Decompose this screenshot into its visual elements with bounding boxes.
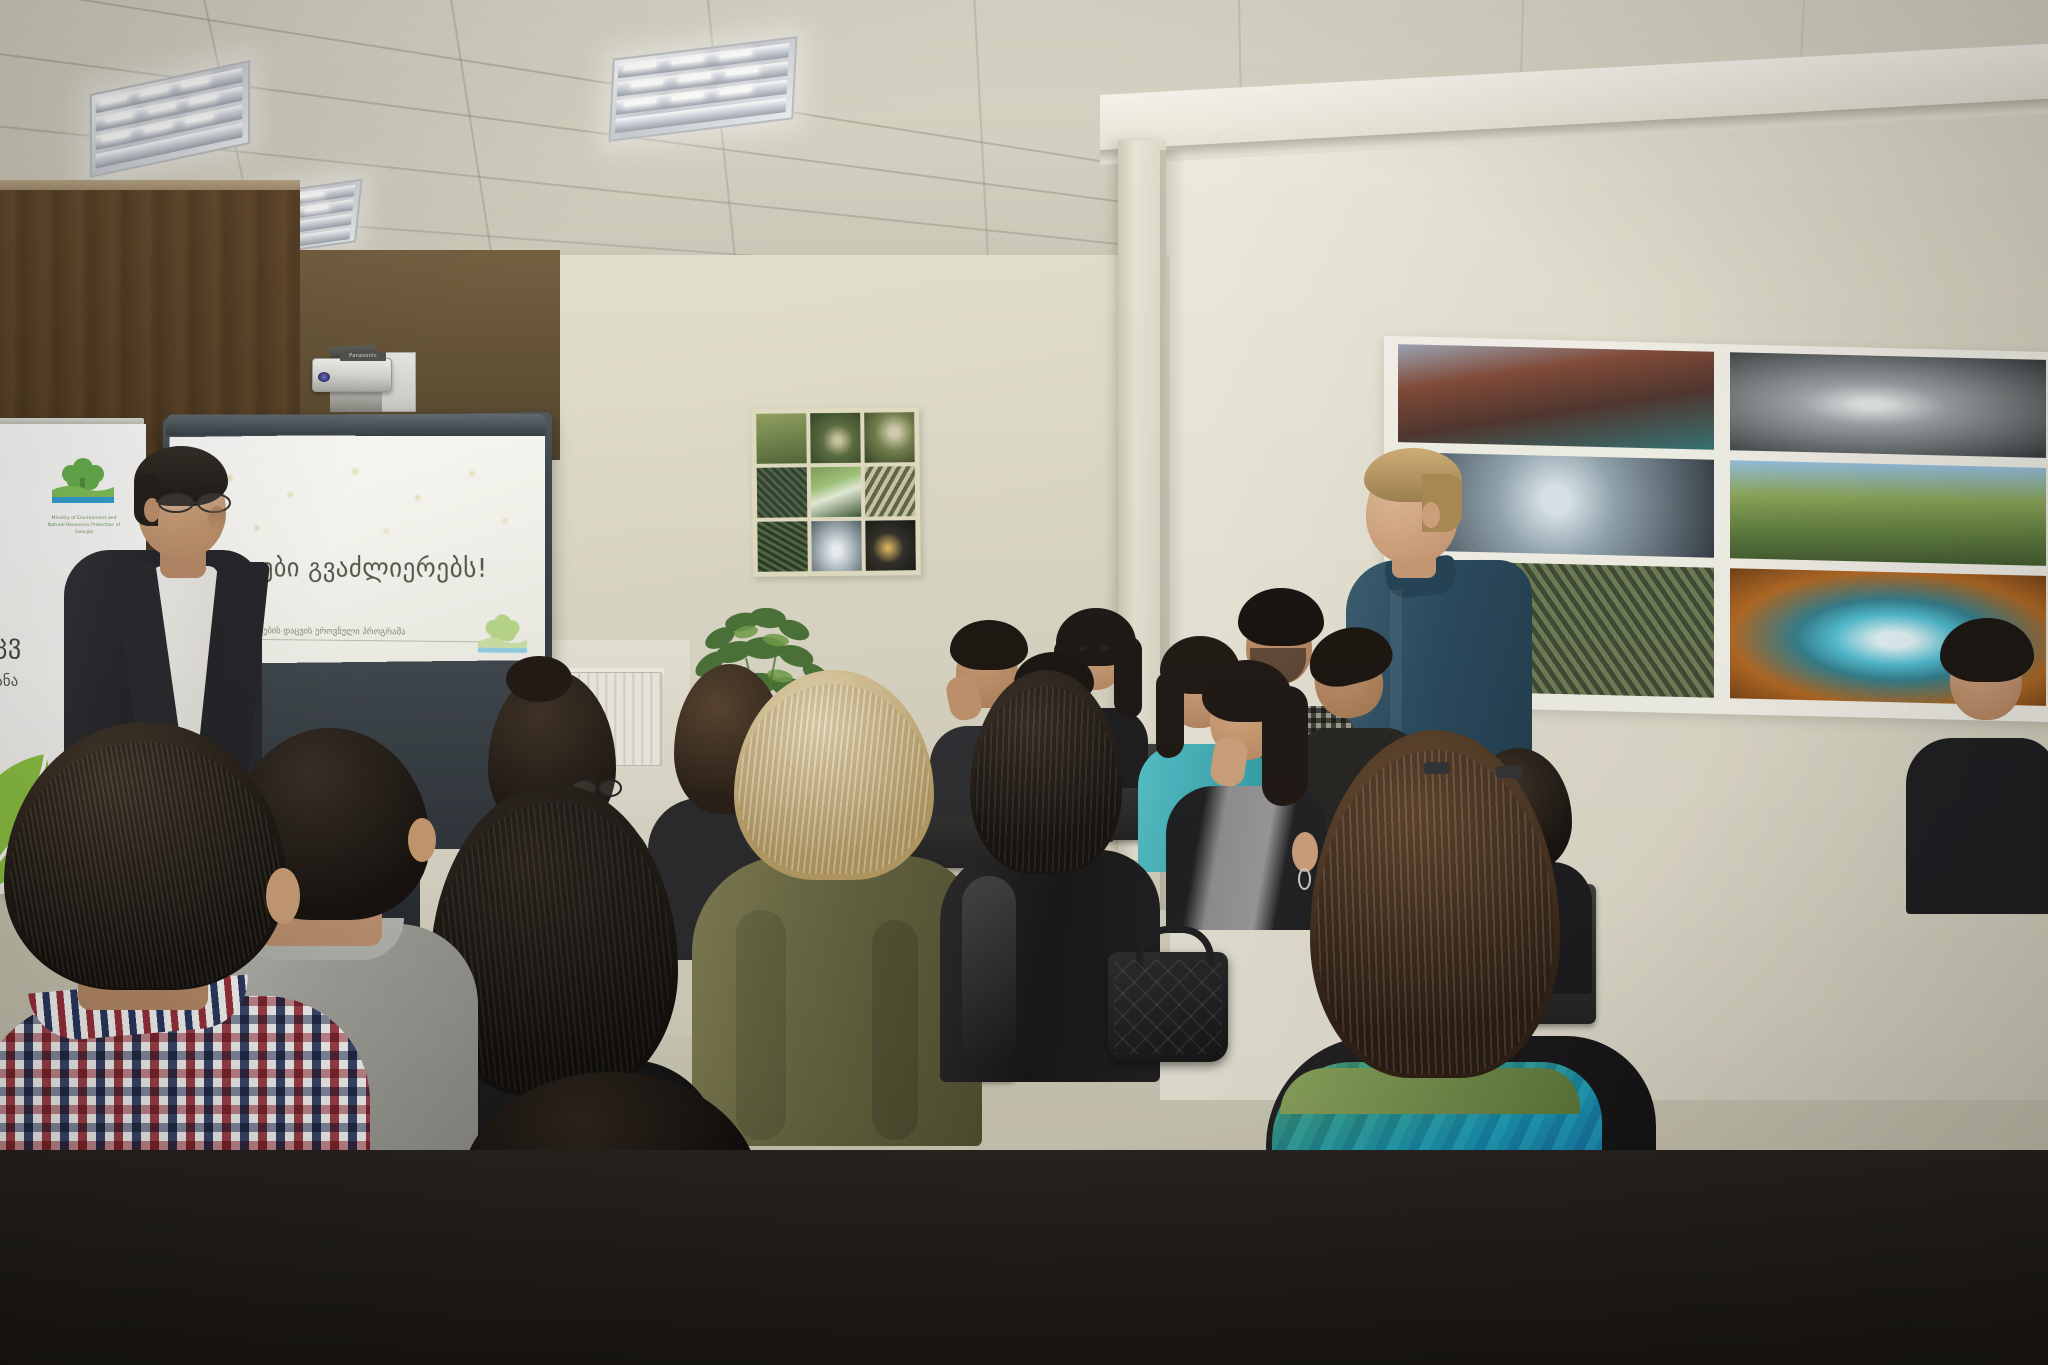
grid-photo <box>1398 344 1714 450</box>
earring <box>1298 868 1311 890</box>
hair-bun <box>506 656 572 702</box>
foreground-shadow <box>0 1150 2048 1365</box>
hair <box>1940 618 2034 682</box>
jacket-shine <box>962 876 1016 1066</box>
collage-photo <box>757 467 808 518</box>
projector-brand-label: Panasonic <box>340 352 386 361</box>
collage-photo <box>865 520 916 571</box>
grid-photo <box>1730 352 2046 458</box>
collage-photo <box>757 521 808 572</box>
coat-fold <box>872 920 918 1140</box>
handbag <box>1108 952 1228 1062</box>
attendee-blonde-olive <box>692 660 982 1140</box>
collage-photo <box>811 521 862 572</box>
presenter-face-shading <box>208 506 226 532</box>
hair-clip <box>1424 762 1450 774</box>
ear <box>1292 832 1318 872</box>
projector-lens <box>318 372 330 382</box>
grid-photo <box>1730 460 2046 566</box>
room-photo-scene: Panasonic ხვეები გვაძლიერებს! ბუნების და… <box>0 0 2048 1365</box>
collage-photo <box>865 466 916 517</box>
attendee-maroon-hair <box>1906 612 2048 912</box>
hair-clip <box>1496 766 1522 778</box>
torso <box>1906 738 2048 914</box>
collage-photo <box>811 467 862 518</box>
ear <box>408 818 436 862</box>
collage-photo <box>810 413 861 464</box>
handbag-quilting <box>1114 960 1222 1054</box>
nature-photo-collage <box>751 407 921 577</box>
standing-attendee-ear <box>1422 502 1440 528</box>
collage-photo <box>864 412 915 463</box>
collage-photo <box>756 413 807 464</box>
ear <box>266 868 300 924</box>
